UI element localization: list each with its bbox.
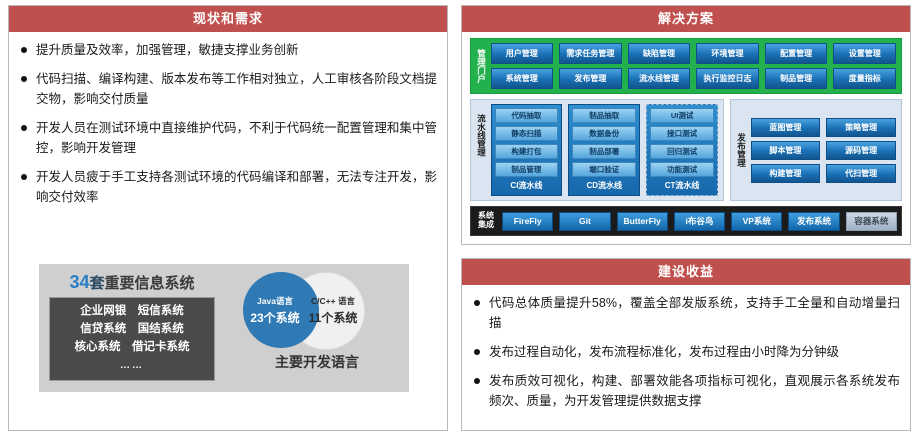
pipeline-stage[interactable]: 制品部署	[572, 144, 636, 159]
release-button[interactable]: 构建管理	[751, 164, 821, 183]
venn-label-cpp: C/C++ 语言 11个系统	[295, 272, 371, 348]
release-button[interactable]: 源码管理	[826, 141, 896, 160]
list-item: 开发人员在测试环境中直接维护代码，不利于代码统一配置管理和集中管控，影响开发管理	[19, 118, 437, 158]
venn-java-name: Java语言	[257, 295, 293, 307]
integration-button[interactable]: FireFly	[502, 212, 553, 231]
portal-button[interactable]: 系统管理	[491, 68, 554, 89]
pipeline-stage[interactable]: 回归测试	[650, 144, 714, 159]
portal-button[interactable]: 配置管理	[765, 43, 828, 64]
integration-button[interactable]: Git	[559, 212, 610, 231]
release-button[interactable]: 蓝图管理	[751, 118, 821, 137]
systems-count: 34	[69, 272, 89, 292]
current-status-bullet-list: 提升质量及效率，加强管理，敏捷支撑业务创新 代码扫描、编译构建、版本发布等工作相…	[19, 40, 437, 207]
integration-button[interactable]: VP系统	[731, 212, 782, 231]
systems-title-rest: 重要信息系统	[105, 275, 195, 292]
release-management-label: 发布管理	[736, 119, 746, 181]
release-button[interactable]: 代扫管理	[826, 164, 896, 183]
venn-cpp-count: 11个系统	[309, 309, 358, 326]
system-integration-buttons: FireFly Git ButterFly i布谷鸟 VP系统 发布系统 容器系…	[502, 212, 897, 231]
pipeline-column-caption: CD流水线	[572, 180, 636, 192]
venn-cpp-name: C/C++ 语言	[311, 295, 355, 307]
list-item: 代码扫描、编译构建、版本发布等工作相对独立，人工审核各阶段文档提交物，影响交付质…	[19, 69, 437, 109]
management-portal-buttons: 用户管理 需求任务管理 缺陷管理 环境管理 配置管理 设置管理 系统管理 发布管…	[491, 43, 896, 89]
integration-button[interactable]: 容器系统	[846, 212, 897, 231]
system-integration-section: 系统集成 FireFly Git ButterFly i布谷鸟 VP系统 发布系…	[470, 206, 902, 236]
list-item: 发布质效可视化，构建、部署效能各项指标可视化，直观展示各系统发布频次、质量，为开…	[472, 371, 900, 411]
release-button[interactable]: 策略管理	[826, 118, 896, 137]
pipeline-stage[interactable]: 接口测试	[650, 126, 714, 141]
panel-solution: 解决方案 管理门户 用户管理 需求任务管理 缺陷管理 环境管理 配置管理 设置管…	[461, 5, 911, 245]
panel-current-status: 现状和需求 提升质量及效率，加强管理，敏捷支撑业务创新 代码扫描、编译构建、版本…	[8, 5, 448, 431]
list-item: 企业网银 短信系统	[50, 303, 214, 321]
solution-architecture-diagram: 管理门户 用户管理 需求任务管理 缺陷管理 环境管理 配置管理 设置管理 系统管…	[462, 32, 910, 242]
portal-button[interactable]: 度量指标	[833, 68, 896, 89]
list-item: 核心系统 借记卡系统	[50, 339, 214, 357]
pipeline-column-ci: 代码抽取 静态扫描 构建打包 制品管理 CI流水线	[491, 104, 563, 196]
language-venn-card: Java语言 23个系统 C/C++ 语言 11个系统 主要开发语言	[225, 264, 409, 392]
systems-count-unit: 套	[90, 275, 105, 292]
pipeline-stage[interactable]: 端口验证	[572, 162, 636, 177]
list-item: 代码总体质量提升58%，覆盖全部发版系统，支持手工全量和自动增量扫描	[472, 293, 900, 333]
systems-infographic: 34套重要信息系统 企业网银 短信系统 信贷系统 国结系统 核心系统 借记卡系统…	[39, 264, 409, 392]
pipeline-stage[interactable]: 数据备份	[572, 126, 636, 141]
list-item: 开发人员疲于手工支持各测试环境的代码编译和部署，无法专注开发，影响交付效率	[19, 167, 437, 207]
pipeline-stage[interactable]: 制品管理	[495, 162, 559, 177]
list-item: 提升质量及效率，加强管理，敏捷支撑业务创新	[19, 40, 437, 60]
slide-canvas: 现状和需求 提升质量及效率，加强管理，敏捷支撑业务创新 代码扫描、编译构建、版本…	[0, 0, 919, 436]
pipeline-column-ct: UI测试 接口测试 回归测试 功能测试 CT流水线	[646, 104, 718, 196]
portal-button[interactable]: 发布管理	[559, 68, 622, 89]
panel-current-status-title: 现状和需求	[9, 6, 447, 32]
management-portal-label: 管理门户	[476, 43, 486, 89]
list-item: 信贷系统 国结系统	[50, 321, 214, 339]
release-button[interactable]: 脚本管理	[751, 141, 821, 160]
portal-button[interactable]: 制品管理	[765, 68, 828, 89]
portal-button[interactable]: 执行监控日志	[696, 68, 759, 89]
portal-button[interactable]: 设置管理	[833, 43, 896, 64]
management-portal-section: 管理门户 用户管理 需求任务管理 缺陷管理 环境管理 配置管理 设置管理 系统管…	[470, 38, 902, 94]
integration-button[interactable]: 发布系统	[788, 212, 839, 231]
system-name-list: 企业网银 短信系统 信贷系统 国结系统 核心系统 借记卡系统 ……	[49, 297, 215, 381]
pipeline-management-label: 流水线管理	[476, 104, 486, 166]
list-item: 发布过程自动化，发布流程标准化，发布过程由小时降为分钟级	[472, 342, 900, 362]
system-integration-label: 系统集成	[475, 210, 497, 232]
venn-caption: 主要开发语言	[225, 352, 409, 372]
integration-button[interactable]: ButterFly	[617, 212, 668, 231]
pipeline-stage[interactable]: 静态扫描	[495, 126, 559, 141]
pipeline-stage[interactable]: 代码抽取	[495, 108, 559, 123]
release-management-buttons: 蓝图管理 策略管理 脚本管理 源码管理 构建管理 代扫管理	[751, 118, 896, 183]
pipeline-column-cd: 制品抽取 数据备份 制品部署 端口验证 CD流水线	[568, 104, 640, 196]
panel-solution-title: 解决方案	[462, 6, 910, 32]
panel-benefit-title: 建设收益	[462, 259, 910, 285]
pipeline-column-caption: CT流水线	[650, 180, 714, 192]
panel-benefit-body: 代码总体质量提升58%，覆盖全部发版系统，支持手工全量和自动增量扫描 发布过程自…	[462, 285, 910, 426]
portal-button[interactable]: 缺陷管理	[628, 43, 691, 64]
pipeline-stage[interactable]: UI测试	[650, 108, 714, 123]
portal-button[interactable]: 需求任务管理	[559, 43, 622, 64]
venn-diagram: Java语言 23个系统 C/C++ 语言 11个系统	[225, 264, 409, 350]
pipeline-stage[interactable]: 构建打包	[495, 144, 559, 159]
pipeline-columns: 代码抽取 静态扫描 构建打包 制品管理 CI流水线 制品抽取 数据备份 制品部署…	[491, 104, 718, 196]
ellipsis-text: ……	[50, 358, 214, 374]
pipeline-management-section: 流水线管理 代码抽取 静态扫描 构建打包 制品管理 CI流水线 制品抽取 数据备…	[470, 99, 724, 201]
important-systems-card: 34套重要信息系统 企业网银 短信系统 信贷系统 国结系统 核心系统 借记卡系统…	[39, 264, 225, 392]
integration-button[interactable]: i布谷鸟	[674, 212, 725, 231]
venn-java-count: 23个系统	[250, 309, 299, 326]
important-systems-title: 34套重要信息系统	[39, 264, 225, 293]
panel-benefit: 建设收益 代码总体质量提升58%，覆盖全部发版系统，支持手工全量和自动增量扫描 …	[461, 258, 911, 431]
benefit-bullet-list: 代码总体质量提升58%，覆盖全部发版系统，支持手工全量和自动增量扫描 发布过程自…	[472, 293, 900, 411]
pipeline-stage[interactable]: 功能测试	[650, 162, 714, 177]
portal-button[interactable]: 流水线管理	[628, 68, 691, 89]
pipeline-column-caption: CI流水线	[495, 180, 559, 192]
panel-current-status-body: 提升质量及效率，加强管理，敏捷支撑业务创新 代码扫描、编译构建、版本发布等工作相…	[9, 32, 447, 222]
portal-button[interactable]: 用户管理	[491, 43, 554, 64]
pipeline-release-row: 流水线管理 代码抽取 静态扫描 构建打包 制品管理 CI流水线 制品抽取 数据备…	[470, 99, 902, 201]
release-management-section: 发布管理 蓝图管理 策略管理 脚本管理 源码管理 构建管理 代扫管理	[730, 99, 902, 201]
pipeline-stage[interactable]: 制品抽取	[572, 108, 636, 123]
portal-button[interactable]: 环境管理	[696, 43, 759, 64]
